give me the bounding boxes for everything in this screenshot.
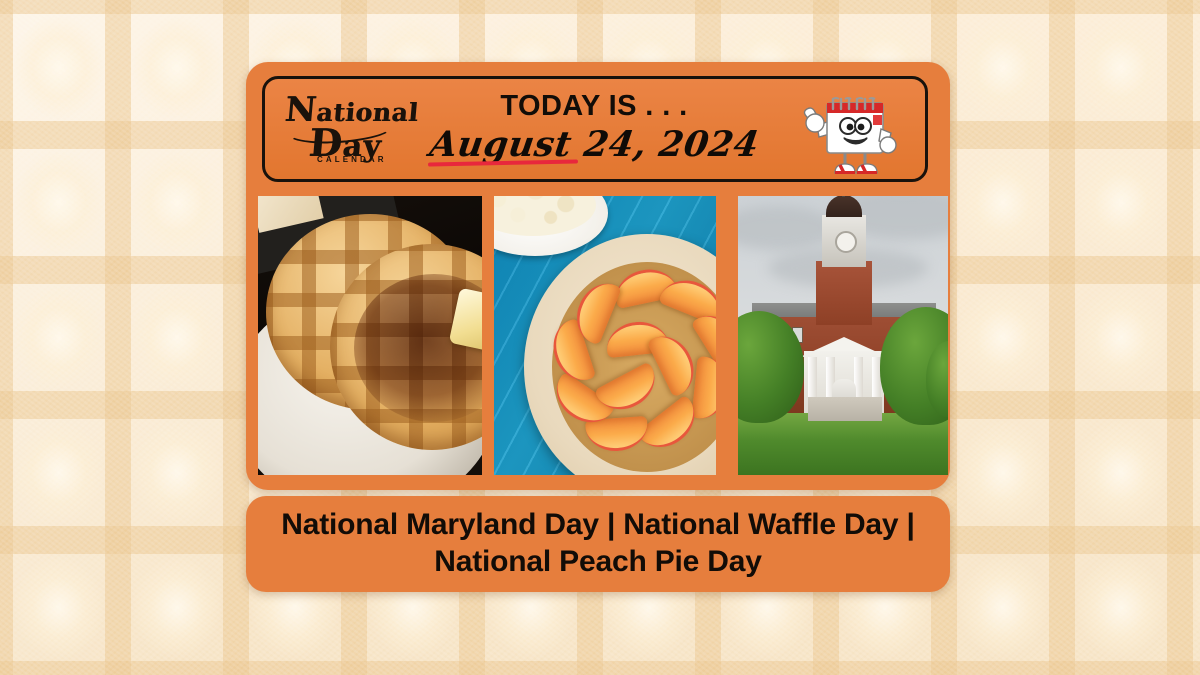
photo-peach[interactable] (494, 196, 716, 475)
calendar-mascot-icon (775, 79, 925, 179)
photo-maryland[interactable] (738, 196, 948, 475)
maryland-photo-dome (826, 196, 862, 217)
date-text: August 24, 2024 (427, 127, 761, 164)
national-day-calendar-logo[interactable]: National Day CALENDAR (265, 79, 413, 179)
holiday-title-text: National Maryland Day | National Waffle … (246, 496, 950, 592)
maryland-photo-spire (842, 196, 845, 197)
photo-strip (258, 196, 938, 475)
holiday-title-card: National Maryland Day | National Waffle … (246, 496, 950, 592)
screenshot-stage: National Day CALENDAR TODAY IS . . . Aug… (0, 0, 1200, 675)
logo-line-calendar: CALENDAR (317, 155, 387, 164)
maryland-photo-clock (835, 231, 857, 253)
header-banner: National Day CALENDAR TODAY IS . . . Aug… (262, 76, 928, 182)
date-wrapper: August 24, 2024 (424, 127, 765, 164)
maryland-photo-tower (816, 261, 872, 325)
photo-waffle[interactable] (258, 196, 482, 475)
banner-center-text: TODAY IS . . . August 24, 2024 (413, 92, 775, 166)
main-card: National Day CALENDAR TODAY IS . . . Aug… (246, 62, 950, 490)
today-is-label: TODAY IS . . . (500, 92, 687, 121)
maryland-photo-walkway (808, 397, 882, 421)
